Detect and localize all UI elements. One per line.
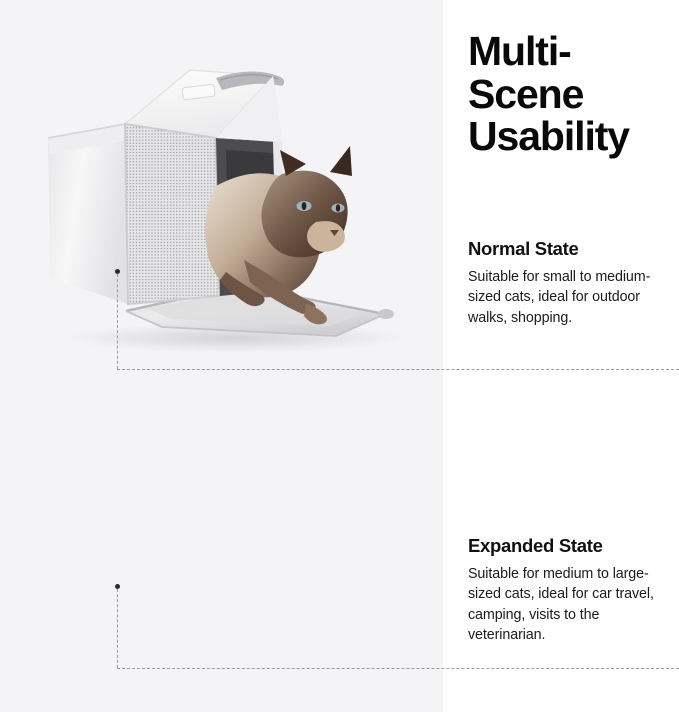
callout-vline-normal <box>117 274 118 369</box>
text-column: Multi-Scene Usability Normal State Suita… <box>443 0 679 712</box>
page-title: Multi-Scene Usability <box>468 30 679 158</box>
photo-column <box>0 0 443 712</box>
caption-body-expanded: Suitable for medium to large-sized cats,… <box>468 564 678 645</box>
infographic-page: Multi-Scene Usability Normal State Suita… <box>0 0 679 712</box>
callout-vline-expanded <box>117 589 118 668</box>
caption-body-normal: Suitable for small to medium-sized cats,… <box>468 267 678 328</box>
caption-normal-state: Normal State Suitable for small to mediu… <box>468 238 678 328</box>
photo-panel-normal <box>0 0 443 369</box>
caption-expanded-state: Expanded State Suitable for medium to la… <box>468 535 678 645</box>
product-photo-normal-state <box>30 46 420 356</box>
callout-divider-expanded <box>117 668 679 669</box>
caption-title-normal: Normal State <box>468 238 678 260</box>
caption-title-expanded: Expanded State <box>468 535 678 557</box>
callout-divider-normal <box>117 369 679 370</box>
photo-panel-expanded <box>0 369 443 712</box>
